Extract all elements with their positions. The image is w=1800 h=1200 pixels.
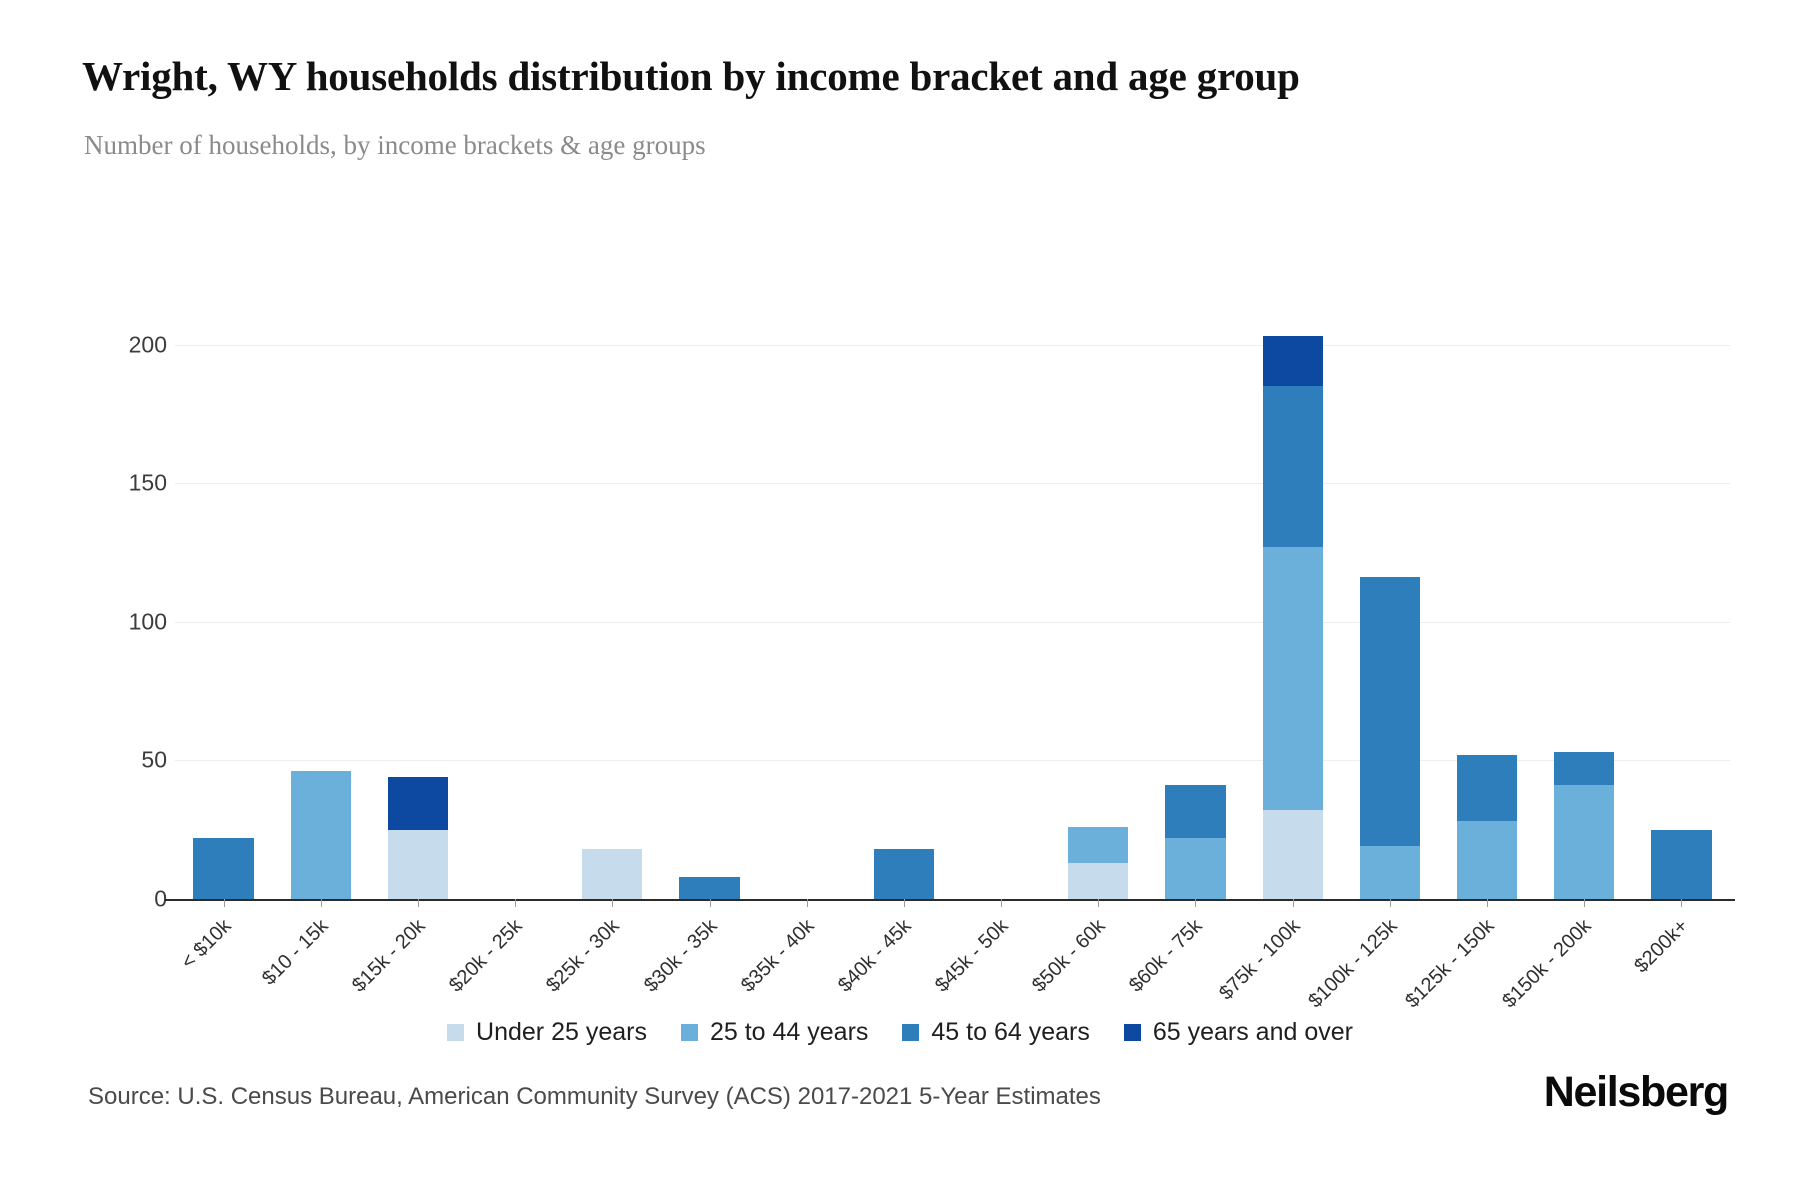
bar-segment[interactable] — [1263, 810, 1323, 899]
legend-label: 25 to 44 years — [710, 1018, 868, 1047]
x-axis-tickmark — [1098, 899, 1099, 907]
chart-subtitle: Number of households, by income brackets… — [84, 130, 706, 161]
bar-stack[interactable] — [1554, 752, 1614, 899]
x-axis-label: $100k - 125k — [1304, 915, 1402, 1013]
bar-stack[interactable] — [582, 849, 642, 899]
x-axis-tickmark — [710, 899, 711, 907]
x-axis-label: $35k - 40k — [737, 915, 819, 997]
bar-stack[interactable] — [1457, 755, 1517, 899]
bar-segment[interactable] — [291, 771, 351, 899]
y-axis-tick-label: 100 — [47, 608, 167, 635]
x-axis-tickmark — [1390, 899, 1391, 907]
bar-segment[interactable] — [1360, 577, 1420, 846]
bar-segment[interactable] — [1457, 821, 1517, 899]
bar-stack[interactable] — [1651, 830, 1711, 899]
y-axis-tick-label: 0 — [47, 886, 167, 913]
x-axis-tickmark — [1681, 899, 1682, 907]
bar-segment[interactable] — [1068, 863, 1128, 899]
bar-segment[interactable] — [1068, 827, 1128, 863]
chart-legend: Under 25 years25 to 44 years45 to 64 yea… — [0, 1018, 1800, 1047]
legend-label: 45 to 64 years — [931, 1018, 1089, 1047]
bar-segment[interactable] — [1165, 785, 1225, 838]
x-axis-label: $25k - 30k — [542, 915, 624, 997]
legend-item[interactable]: 25 to 44 years — [681, 1018, 868, 1047]
bar-stack[interactable] — [388, 777, 448, 899]
bar-segment[interactable] — [388, 777, 448, 830]
x-axis-tickmark — [904, 899, 905, 907]
bar-segment[interactable] — [1554, 785, 1614, 899]
bar-segment[interactable] — [1263, 386, 1323, 547]
x-axis-label: < $10k — [177, 915, 236, 974]
bar-segment[interactable] — [193, 838, 253, 899]
bar-stack[interactable] — [1360, 577, 1420, 899]
bar-stack[interactable] — [291, 771, 351, 899]
legend-swatch-icon — [447, 1024, 464, 1041]
source-note: Source: U.S. Census Bureau, American Com… — [88, 1083, 1101, 1111]
x-axis-label: $20k - 25k — [445, 915, 527, 997]
x-axis-label: $150k - 200k — [1498, 915, 1596, 1013]
legend-item[interactable]: 45 to 64 years — [902, 1018, 1089, 1047]
legend-label: Under 25 years — [476, 1018, 647, 1047]
x-axis-tickmark — [224, 899, 225, 907]
x-axis-label: $60k - 75k — [1125, 915, 1207, 997]
y-axis-tick-label: 200 — [47, 331, 167, 358]
legend-item[interactable]: 65 years and over — [1124, 1018, 1353, 1047]
x-axis-tickmark — [515, 899, 516, 907]
bar-stack[interactable] — [679, 877, 739, 899]
x-axis-tickmark — [807, 899, 808, 907]
x-axis-tickmark — [321, 899, 322, 907]
y-axis-tick-label: 50 — [47, 747, 167, 774]
x-axis-tickmark — [612, 899, 613, 907]
bar-stack[interactable] — [874, 849, 934, 899]
x-axis-label: $125k - 150k — [1401, 915, 1499, 1013]
bar-segment[interactable] — [1457, 755, 1517, 822]
legend-item[interactable]: Under 25 years — [447, 1018, 647, 1047]
x-axis-line — [165, 899, 1735, 901]
chart-page: Wright, WY households distribution by in… — [0, 0, 1800, 1200]
x-axis-tickmark — [1001, 899, 1002, 907]
bar-series-container — [175, 303, 1730, 899]
bar-segment[interactable] — [874, 849, 934, 899]
bar-segment[interactable] — [1263, 336, 1323, 386]
x-axis-tickmark — [1487, 899, 1488, 907]
bar-segment[interactable] — [1554, 752, 1614, 785]
x-axis-label: $15k - 20k — [348, 915, 430, 997]
legend-swatch-icon — [681, 1024, 698, 1041]
y-axis-tick-label: 150 — [47, 470, 167, 497]
x-axis-tickmark — [1195, 899, 1196, 907]
x-axis-tickmark — [1584, 899, 1585, 907]
x-axis-label: $50k - 60k — [1028, 915, 1110, 997]
x-axis-label: $75k - 100k — [1215, 915, 1305, 1005]
legend-label: 65 years and over — [1153, 1018, 1353, 1047]
bar-stack[interactable] — [193, 838, 253, 899]
bar-segment[interactable] — [1263, 547, 1323, 810]
x-axis-tickmark — [418, 899, 419, 907]
bar-segment[interactable] — [679, 877, 739, 899]
page-title: Wright, WY households distribution by in… — [82, 52, 1300, 100]
brand-logo: Neilsberg — [1544, 1068, 1728, 1117]
x-axis-label: $10 - 15k — [258, 915, 333, 990]
x-axis-tickmark — [1293, 899, 1294, 907]
plot-area: 050100150200 < $10k$10 - 15k$15k - 20k$2… — [175, 303, 1730, 903]
bar-stack[interactable] — [1263, 336, 1323, 899]
x-axis-label: $200k+ — [1631, 915, 1694, 978]
bar-stack[interactable] — [1165, 785, 1225, 899]
bar-segment[interactable] — [582, 849, 642, 899]
bar-stack[interactable] — [1068, 827, 1128, 899]
bar-segment[interactable] — [1651, 830, 1711, 899]
legend-swatch-icon — [902, 1024, 919, 1041]
legend-swatch-icon — [1124, 1024, 1141, 1041]
bar-segment[interactable] — [388, 830, 448, 899]
bar-segment[interactable] — [1165, 838, 1225, 899]
bar-segment[interactable] — [1360, 846, 1420, 899]
x-axis-label: $45k - 50k — [931, 915, 1013, 997]
x-axis-label: $30k - 35k — [639, 915, 721, 997]
x-axis-label: $40k - 45k — [834, 915, 916, 997]
